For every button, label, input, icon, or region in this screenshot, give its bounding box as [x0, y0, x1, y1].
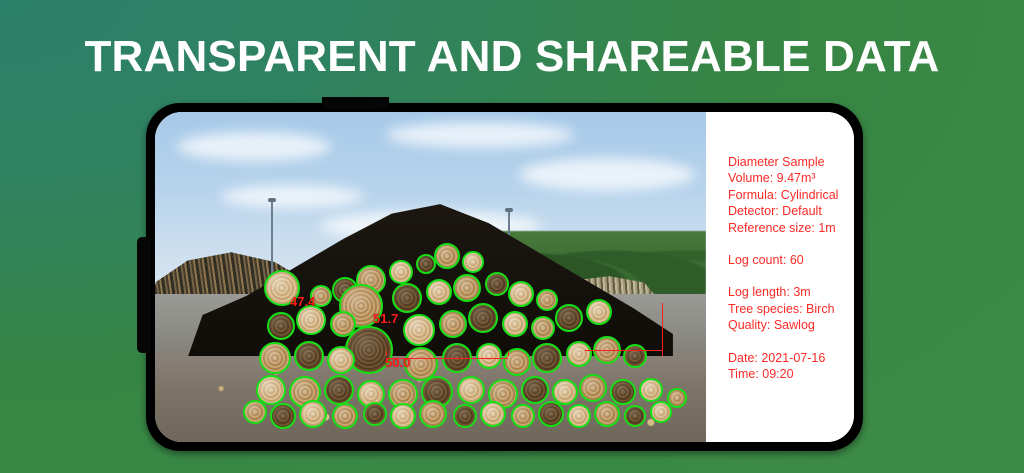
detected-log-circle[interactable] — [567, 404, 591, 428]
detected-log-circle[interactable] — [536, 289, 558, 311]
spacer — [728, 268, 854, 284]
detected-log-circle[interactable] — [392, 283, 422, 313]
detected-log-circle[interactable] — [299, 400, 327, 428]
diameter-label: 47.4 — [290, 294, 315, 309]
time-value: Time: 09:20 — [728, 366, 854, 382]
detected-log-circle[interactable] — [434, 243, 460, 269]
cloud-shape — [221, 185, 364, 208]
detected-log-circle[interactable] — [610, 379, 636, 405]
reference-scale-tick-right — [508, 351, 509, 356]
detected-log-circle[interactable] — [538, 401, 564, 427]
detector-value: Detector: Default — [728, 203, 854, 219]
detected-log-circle[interactable] — [267, 312, 295, 340]
detected-log-circle[interactable] — [462, 251, 484, 273]
date-value: Date: 2021-07-16 — [728, 350, 854, 366]
reference-scale-line — [386, 358, 507, 359]
cloud-shape — [519, 158, 695, 191]
detected-log-circle[interactable] — [294, 341, 324, 371]
log-length-value: Log length: 3m — [728, 284, 854, 300]
volume-value: Volume: 9.47m³ — [728, 170, 854, 186]
phone-screen: 47.451.750.0 Diameter Sample Volume: 9.4… — [155, 112, 854, 442]
detected-log-circle[interactable] — [476, 343, 502, 369]
detected-log-circle[interactable] — [485, 272, 509, 296]
detected-log-circle[interactable] — [296, 305, 326, 335]
log-detection-photo[interactable]: 47.451.750.0 — [155, 112, 706, 442]
detected-log-circle[interactable] — [511, 404, 535, 428]
poster-canvas: TRANSPARENT AND SHAREABLE DATA — [0, 0, 1024, 473]
reference-scale-tick-vertical — [662, 303, 663, 356]
detected-log-circle[interactable] — [390, 403, 416, 429]
detected-log-circle[interactable] — [389, 260, 413, 284]
detected-log-circle[interactable] — [416, 254, 436, 274]
measurement-info-panel: Diameter Sample Volume: 9.47m³ Formula: … — [706, 112, 854, 442]
detected-log-circle[interactable] — [327, 346, 355, 374]
detected-log-circle[interactable] — [363, 402, 387, 426]
detected-log-circle[interactable] — [468, 303, 498, 333]
formula-value: Formula: Cylindrical — [728, 187, 854, 203]
detected-log-circle[interactable] — [579, 374, 607, 402]
detected-log-circle[interactable] — [243, 400, 267, 424]
page-title: TRANSPARENT AND SHAREABLE DATA — [0, 34, 1024, 80]
detected-log-circle[interactable] — [586, 299, 612, 325]
detected-log-circle[interactable] — [453, 404, 477, 428]
detected-log-circle[interactable] — [532, 343, 562, 373]
detected-log-circle[interactable] — [453, 274, 481, 302]
measurement-group: Date: 2021-07-16 Time: 09:20 — [728, 350, 854, 383]
log-count-value: Log count: 60 — [728, 252, 854, 268]
detected-log-circle[interactable] — [502, 311, 528, 337]
detected-log-circle[interactable] — [480, 401, 506, 427]
spacer — [728, 236, 854, 252]
detected-log-circle[interactable] — [457, 376, 485, 404]
detected-log-circle[interactable] — [439, 310, 467, 338]
detected-log-circle[interactable] — [639, 378, 663, 402]
phone-side-button[interactable] — [137, 237, 151, 353]
reference-size-value: Reference size: 1m — [728, 220, 854, 236]
detected-log-circle[interactable] — [324, 375, 354, 405]
measurement-group: Log count: 60 — [728, 252, 854, 268]
detected-log-circle[interactable] — [508, 281, 534, 307]
detected-log-circle[interactable] — [555, 304, 583, 332]
detected-log-circle[interactable] — [426, 279, 452, 305]
quality-value: Quality: Sawlog — [728, 317, 854, 333]
detected-log-circle[interactable] — [259, 342, 291, 374]
phone-device-mockup: 47.451.750.0 Diameter Sample Volume: 9.4… — [146, 103, 863, 451]
measurement-group: Diameter Sample Volume: 9.47m³ Formula: … — [728, 154, 854, 236]
detected-log-circle[interactable] — [270, 403, 296, 429]
tree-species-value: Tree species: Birch — [728, 301, 854, 317]
detected-log-circle[interactable] — [403, 314, 435, 346]
detected-log-circle[interactable] — [623, 344, 647, 368]
detected-log-circle[interactable] — [566, 341, 592, 367]
detected-log-circle[interactable] — [594, 401, 620, 427]
cloud-shape — [386, 122, 573, 148]
reference-scale-tick-left — [386, 351, 387, 356]
phone-notch-icon — [322, 97, 389, 109]
detected-log-circle[interactable] — [531, 316, 555, 340]
detected-log-circle[interactable] — [624, 405, 646, 427]
diameter-label: 51.7 — [373, 311, 398, 326]
detected-log-circle[interactable] — [521, 376, 549, 404]
detected-log-circle[interactable] — [332, 403, 358, 429]
reference-scale-line-secondary — [585, 350, 662, 351]
detected-log-circle[interactable] — [419, 400, 447, 428]
detected-log-circle[interactable] — [667, 388, 687, 408]
sample-title: Diameter Sample — [728, 154, 854, 170]
measurement-group: Log length: 3m Tree species: Birch Quali… — [728, 284, 854, 333]
spacer — [728, 334, 854, 350]
